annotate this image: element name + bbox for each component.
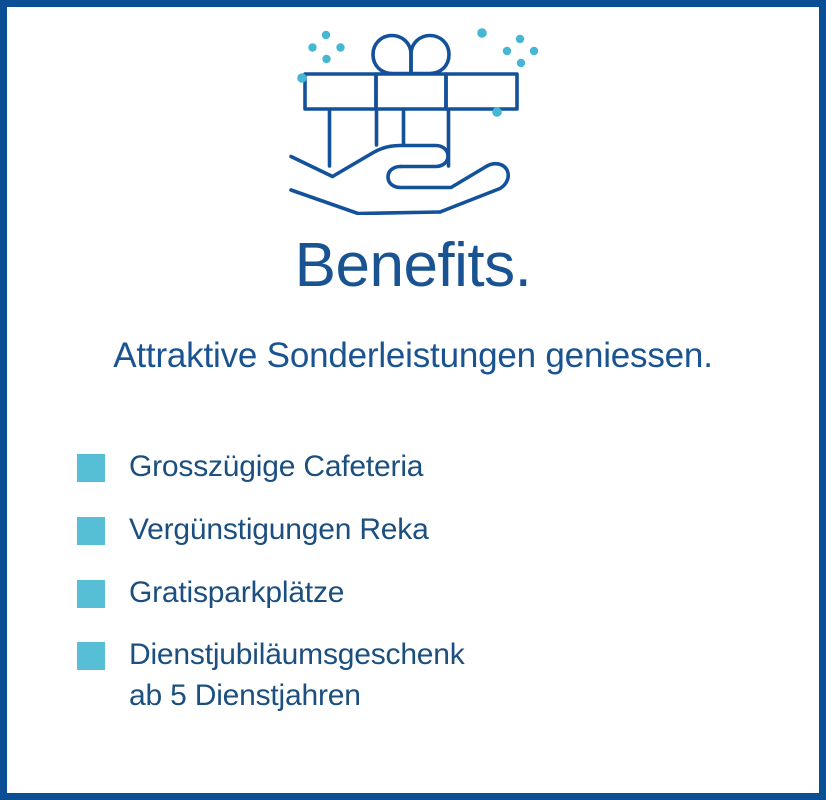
list-item-line1: Gratisparkplätze <box>129 576 344 609</box>
list-item-label: Grosszügige Cafeteria <box>129 447 423 488</box>
bullet-square-icon <box>77 580 105 608</box>
list-item-label: Gratisparkplätze <box>129 573 344 614</box>
list-item-line1: Vergünstigungen Reka <box>129 513 429 546</box>
list-item-line1: Dienstjubiläumsgeschenk <box>129 638 465 671</box>
page-title: Benefits. <box>7 235 819 297</box>
list-item: Dienstjubiläumsgeschenk ab 5 Dienstjahre… <box>77 635 779 717</box>
gift-in-open-hand-icon <box>288 25 538 215</box>
list-item-line1: Grosszügige Cafeteria <box>129 450 423 483</box>
bullet-square-icon <box>77 517 105 545</box>
benefits-card: Benefits. Attraktive Sonderleistungen ge… <box>0 0 826 800</box>
icon-container <box>7 25 819 215</box>
list-item-label: Dienstjubiläumsgeschenk ab 5 Dienstjahre… <box>129 635 465 717</box>
bullet-square-icon <box>77 642 105 670</box>
list-item: Grosszügige Cafeteria <box>77 447 779 488</box>
page-subtitle: Attraktive Sonderleistungen geniessen. <box>7 337 819 376</box>
list-item: Vergünstigungen Reka <box>77 510 779 551</box>
benefits-list: Grosszügige Cafeteria Vergünstigungen Re… <box>77 447 779 717</box>
card-content: Benefits. Attraktive Sonderleistungen ge… <box>7 7 819 793</box>
list-item: Gratisparkplätze <box>77 573 779 614</box>
list-item-label: Vergünstigungen Reka <box>129 510 429 551</box>
list-item-line2: ab 5 Dienstjahren <box>129 676 465 717</box>
bullet-square-icon <box>77 454 105 482</box>
